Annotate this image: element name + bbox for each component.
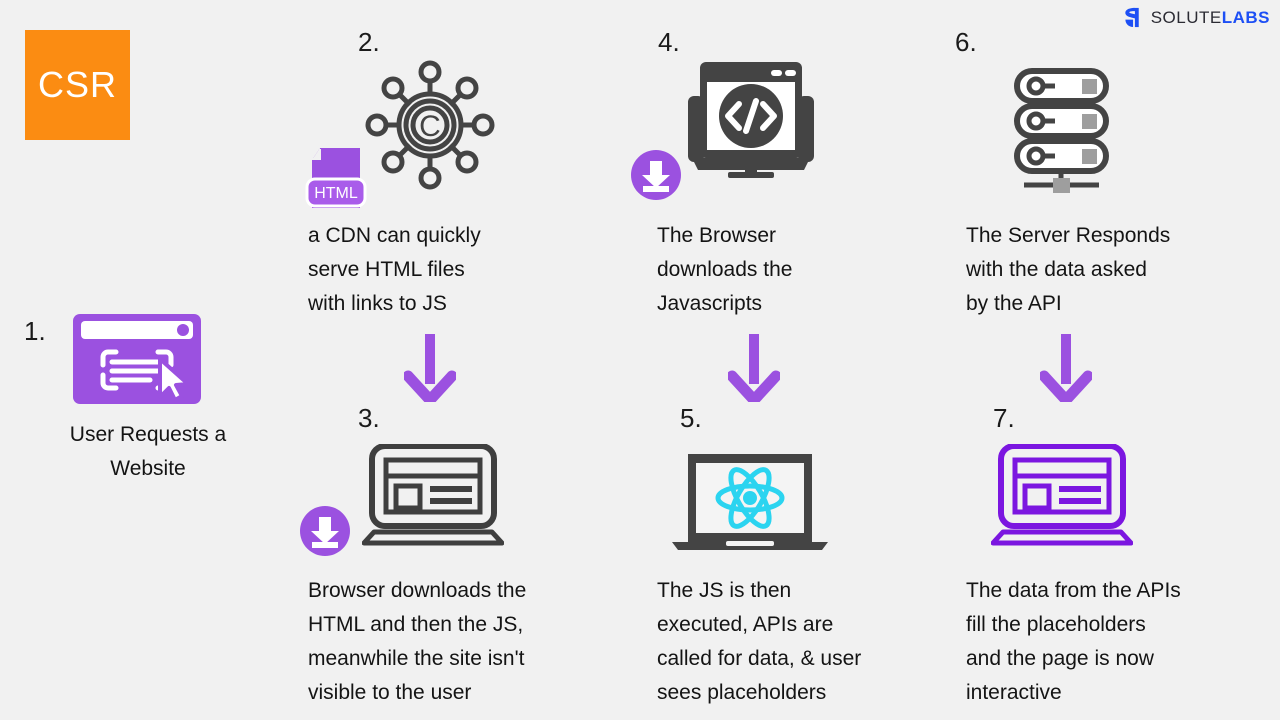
cdn-network-icon: C <box>363 58 497 197</box>
svg-text:C: C <box>419 110 441 143</box>
monitor-code-icon <box>686 58 816 183</box>
brand-name-part2: LABS <box>1222 8 1270 27</box>
download-badge-icon <box>631 150 681 205</box>
arrow-step6-to-step7 <box>1040 334 1092 407</box>
laptop-wireframe-purple-icon <box>991 444 1133 553</box>
browser-window-cursor-icon <box>72 313 202 410</box>
svg-text:HTML: HTML <box>314 185 358 202</box>
solutelabs-mark-icon <box>1121 6 1144 29</box>
step-2-number: 2. <box>358 29 380 55</box>
step-7-caption: The data from the APIs fill the placehol… <box>966 574 1280 710</box>
step-2-caption: a CDN can quickly serve HTML files with … <box>308 219 608 321</box>
step-5-caption: The JS is then executed, APIs are called… <box>657 574 987 710</box>
step-7-number: 7. <box>993 405 1015 431</box>
step-1-caption: User Requests a Website <box>33 418 263 486</box>
laptop-react-icon <box>670 452 830 557</box>
arrow-step4-to-step5 <box>728 334 780 407</box>
brand-name: SOLUTELABS <box>1151 8 1270 28</box>
brand-logo: SOLUTELABS <box>1121 6 1270 29</box>
csr-badge-label: CSR <box>38 64 117 106</box>
laptop-wireframe-icon <box>362 444 504 553</box>
step-5-number: 5. <box>680 405 702 431</box>
infographic-canvas: SOLUTELABS CSR 1. User Requests a Websit… <box>0 0 1280 720</box>
html-file-icon: HTML <box>304 146 372 215</box>
step-6-caption: The Server Responds with the data asked … <box>966 219 1266 321</box>
server-rack-icon <box>1014 68 1109 198</box>
csr-badge: CSR <box>25 30 130 140</box>
step-4-number: 4. <box>658 29 680 55</box>
step-6-number: 6. <box>955 29 977 55</box>
step-3-caption: Browser downloads the HTML and then the … <box>308 574 638 710</box>
arrow-step2-to-step3 <box>404 334 456 407</box>
step-4-caption: The Browser downloads the Javascripts <box>657 219 957 321</box>
brand-name-part1: SOLUTE <box>1151 8 1222 27</box>
step-3-number: 3. <box>358 405 380 431</box>
download-badge-icon <box>300 506 350 561</box>
step-1-number: 1. <box>24 318 46 344</box>
